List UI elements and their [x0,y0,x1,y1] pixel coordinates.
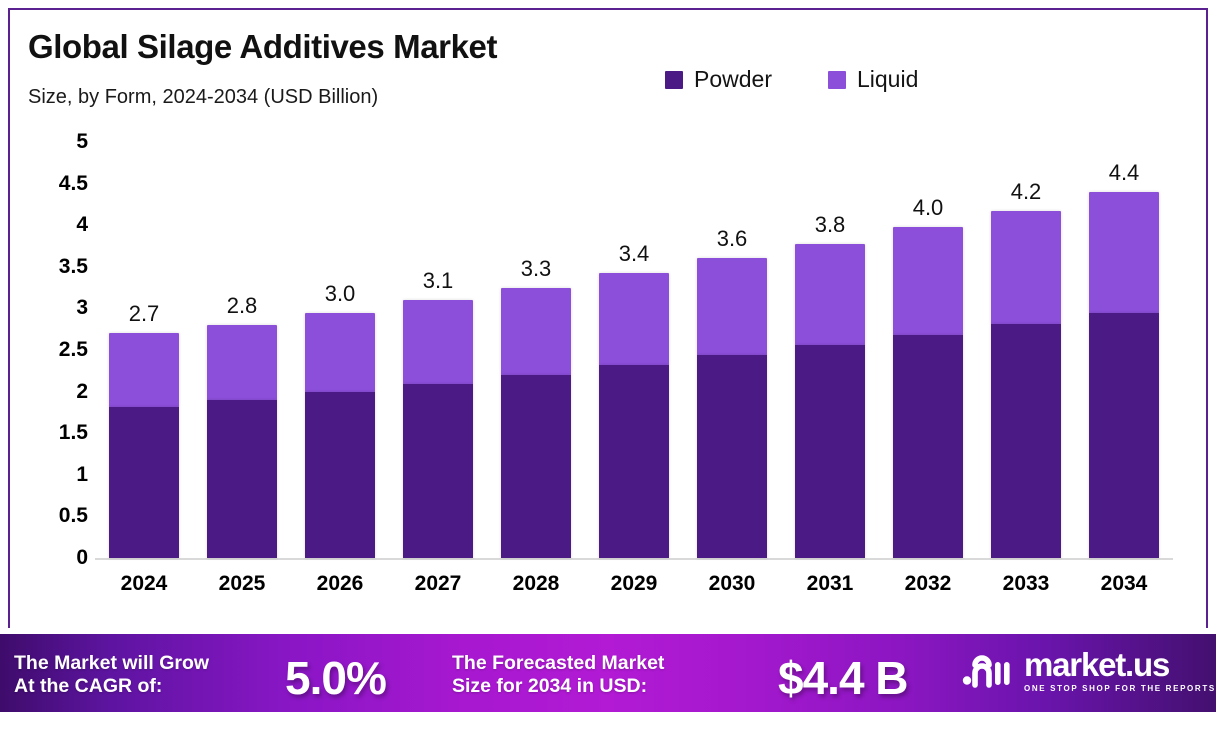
forecast-size-label-line1: The Forecasted Market [452,652,664,674]
bar-value-label: 4.0 [913,195,944,221]
legend-item-liquid[interactable]: Liquid [828,66,918,93]
bar-segment-powder[interactable] [697,355,767,558]
page-title: Global Silage Additives Market [28,28,497,66]
bar-segment-powder[interactable] [501,375,571,558]
forecast-size-value: $4.4 B [778,651,908,705]
bar-value-label: 3.0 [325,281,356,307]
legend-label-liquid: Liquid [857,66,918,93]
cagr-label: The Market will Grow At the CAGR of: [14,652,209,698]
y-axis-tick-labels: 00.511.522.533.544.55 [26,132,88,568]
bar-group[interactable]: 4.4 [1089,192,1159,558]
bar-segment-powder[interactable] [207,400,277,558]
x-axis-tick: 2033 [1003,572,1050,596]
bar-value-label: 3.3 [521,256,552,282]
y-axis-tick: 3.5 [59,255,88,279]
cagr-label-line2: At the CAGR of: [14,675,162,697]
cagr-value: 5.0% [285,651,386,705]
bar-segment-liquid[interactable] [795,244,865,346]
bar-group[interactable]: 4.2 [991,211,1061,558]
x-axis-tick: 2030 [709,572,756,596]
bar-segment-liquid[interactable] [599,273,669,365]
bar-segment-liquid[interactable] [893,227,963,335]
x-axis-tick: 2031 [807,572,854,596]
y-axis-tick: 4 [76,213,88,237]
bar-segment-liquid[interactable] [403,300,473,384]
bar-segment-liquid[interactable] [109,333,179,407]
bar-segment-powder[interactable] [305,392,375,558]
bar-value-label: 3.4 [619,241,650,267]
y-axis-tick: 3 [76,296,88,320]
chart-legend: Powder Liquid [665,66,918,93]
bar-group[interactable]: 4.0 [893,227,963,558]
bar-value-label: 2.8 [227,293,258,319]
y-axis-tick: 5 [76,130,88,154]
bar-segment-powder[interactable] [795,345,865,558]
bar-value-label: 3.1 [423,268,454,294]
bar-segment-powder[interactable] [1089,313,1159,558]
x-axis-tick: 2029 [611,572,658,596]
x-axis-tick: 2025 [219,572,266,596]
x-axis-tick-labels: 2024202520262027202820292030203120322033… [95,572,1173,606]
x-axis-line [95,558,1173,560]
bar-segment-powder[interactable] [893,335,963,558]
x-axis-tick: 2027 [415,572,462,596]
market-us-logo-icon [962,652,1014,690]
legend-label-powder: Powder [694,66,772,93]
y-axis-tick: 1 [76,463,88,487]
bar-group[interactable]: 3.8 [795,244,865,558]
cagr-label-line1: The Market will Grow [14,652,209,674]
bar-segment-powder[interactable] [109,407,179,558]
bar-group[interactable]: 3.1 [403,300,473,558]
bar-group[interactable]: 3.4 [599,273,669,558]
logo-wordmark: market.us [1024,648,1216,681]
y-axis-tick: 4.5 [59,172,88,196]
bar-group[interactable]: 2.8 [207,325,277,558]
bar-segment-powder[interactable] [991,324,1061,558]
y-axis-tick: 1.5 [59,421,88,445]
bar-group[interactable]: 2.7 [109,333,179,558]
y-axis-tick: 2 [76,380,88,404]
bar-value-label: 2.7 [129,301,160,327]
bar-segment-liquid[interactable] [305,313,375,392]
bar-value-label: 3.8 [815,212,846,238]
bar-segment-powder[interactable] [403,384,473,558]
x-axis-tick: 2034 [1101,572,1148,596]
chart-infographic: Global Silage Additives Market Size, by … [0,0,1216,736]
chart-subtitle: Size, by Form, 2024-2034 (USD Billion) [28,86,378,109]
x-axis-tick: 2032 [905,572,952,596]
plot-area: 2.72.83.03.13.33.43.63.84.04.24.4 [95,142,1173,558]
bar-value-label: 3.6 [717,226,748,252]
forecast-size-label: The Forecasted Market Size for 2034 in U… [452,652,664,698]
logo-tagline: ONE STOP SHOP FOR THE REPORTS [1024,685,1216,693]
market-us-logo[interactable]: market.us ONE STOP SHOP FOR THE REPORTS [962,648,1216,693]
x-axis-tick: 2028 [513,572,560,596]
legend-item-powder[interactable]: Powder [665,66,772,93]
bar-group[interactable]: 3.6 [697,258,767,558]
bar-segment-liquid[interactable] [991,211,1061,324]
bar-segment-liquid[interactable] [207,325,277,400]
y-axis-tick: 0 [76,546,88,570]
bar-group[interactable]: 3.3 [501,288,571,558]
bar-segment-liquid[interactable] [1089,192,1159,313]
forecast-size-label-line2: Size for 2034 in USD: [452,675,647,697]
bar-segment-powder[interactable] [599,365,669,558]
bar-value-label: 4.2 [1011,179,1042,205]
bar-segment-liquid[interactable] [501,288,571,375]
y-axis-tick: 0.5 [59,504,88,528]
bar-group[interactable]: 3.0 [305,313,375,558]
bar-value-label: 4.4 [1109,160,1140,186]
x-axis-tick: 2024 [121,572,168,596]
bar-segment-liquid[interactable] [697,258,767,355]
legend-swatch-liquid-icon [828,71,846,89]
y-axis-tick: 2.5 [59,338,88,362]
x-axis-tick: 2026 [317,572,364,596]
legend-swatch-powder-icon [665,71,683,89]
